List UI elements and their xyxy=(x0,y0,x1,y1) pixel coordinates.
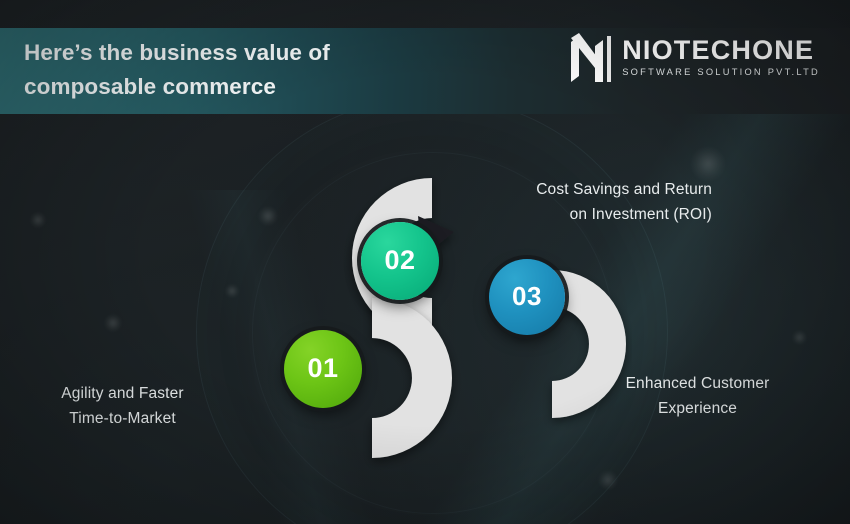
vignette-overlay xyxy=(0,0,850,524)
infographic-canvas: Here’s the business value of composable … xyxy=(0,0,850,524)
